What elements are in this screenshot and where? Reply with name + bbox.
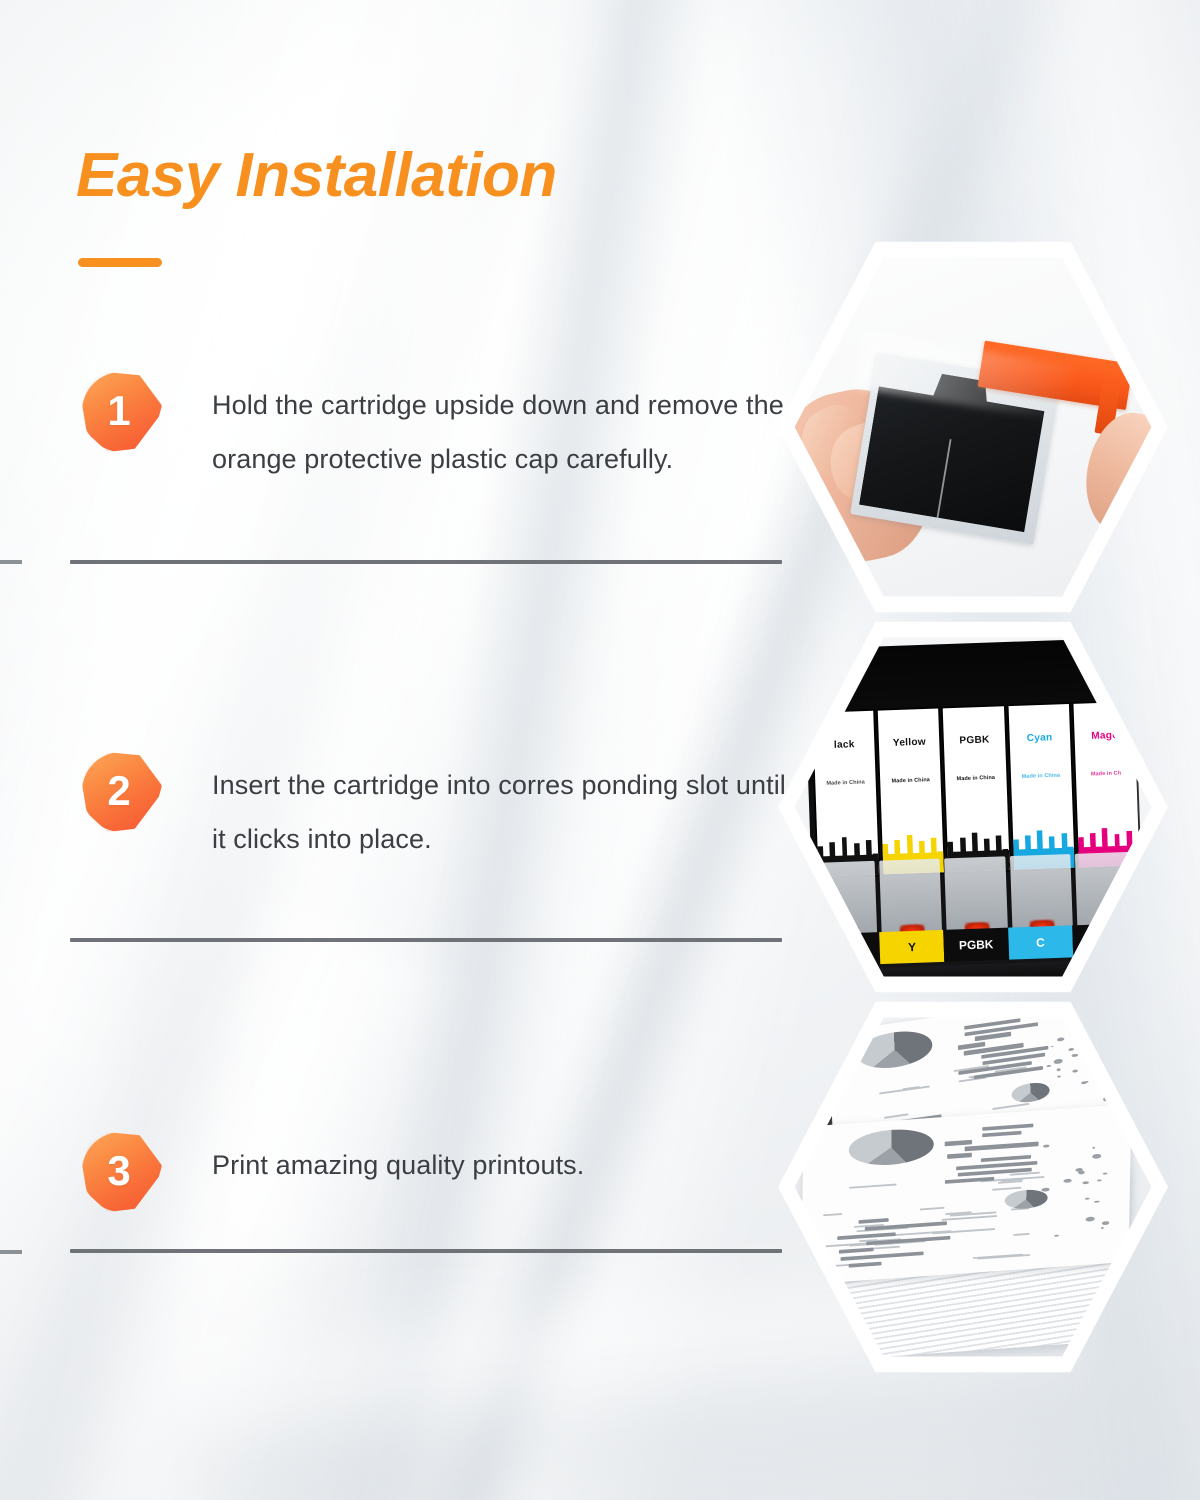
step-number-3: 3 [107, 1150, 130, 1192]
step-description-3: Print amazing quality printouts. [212, 1138, 792, 1192]
cartridge-slot: lackMade in China [813, 711, 879, 877]
cartridge-slot-labels: lackMade in ChinaYellowMade in ChinaPGBK… [813, 702, 1140, 877]
cartridge-label: PGBK [944, 734, 1005, 747]
step-divider-3 [70, 1249, 782, 1253]
cartridge-origin-text: Made in China [816, 780, 877, 788]
step-image-2-photo: lackMade in ChinaYellowMade in ChinaPGBK… [795, 629, 1152, 986]
color-strip-tab: Y [880, 929, 945, 963]
step-divider-1 [70, 560, 782, 564]
step-number-badge-2: 2 [82, 752, 162, 832]
edge-tick-2 [0, 1250, 22, 1254]
step-description-1: Hold the cartridge upside down and remov… [212, 378, 792, 486]
step-number-badge-3: 3 [82, 1132, 162, 1212]
step-divider-2 [70, 938, 782, 942]
cartridge-label: lack [814, 738, 875, 751]
cartridge-slot: YellowMade in China [878, 708, 944, 874]
cartridge-origin-text: Made in China [881, 777, 942, 785]
cartridge-origin-text: Made in China [1011, 773, 1072, 781]
edge-tick-1 [0, 560, 22, 564]
steps-list: 1 Hold the cartridge upside down and rem… [0, 0, 820, 1500]
step-number-badge-1: 1 [82, 372, 162, 452]
step-image-1-photo [795, 249, 1152, 606]
cartridge-origin-text: Made in Ch [1076, 770, 1137, 778]
infographic-page: Easy Installation 1 Hold the cartridge u… [0, 0, 1200, 1500]
cartridge-label: Cyan [1009, 732, 1070, 745]
step-description-2: Insert the cartridge into corres ponding… [212, 758, 792, 866]
cartridge-label: Mage [1075, 729, 1136, 742]
step-number-1: 1 [107, 390, 130, 432]
color-strip-tab: PGBK [944, 927, 1009, 961]
step-number-2: 2 [107, 770, 130, 812]
step-image-3-photo [795, 1009, 1152, 1366]
cartridge-slot: PGBKMade in China [943, 706, 1009, 872]
cartridge-label: Yellow [879, 736, 940, 749]
color-strip-tab: C [1008, 925, 1073, 959]
cartridge-slot: CyanMade in China [1009, 704, 1075, 870]
cartridge-origin-text: Made in China [946, 775, 1007, 783]
